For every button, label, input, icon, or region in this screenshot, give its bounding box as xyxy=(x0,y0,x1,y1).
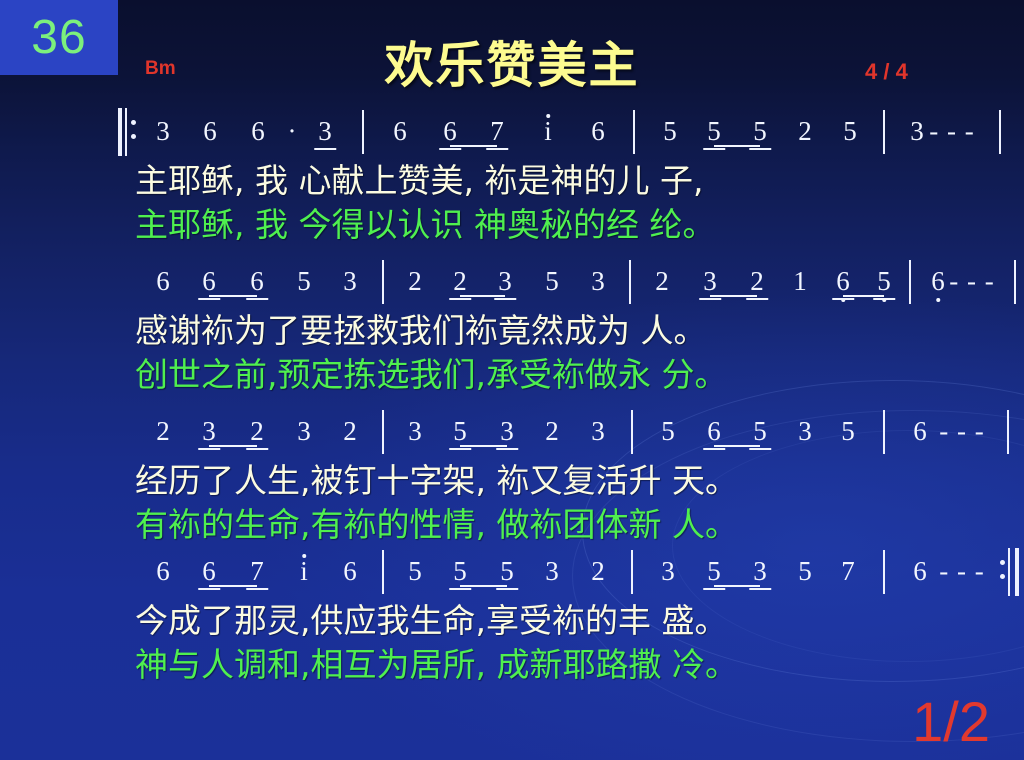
beam-line xyxy=(209,585,257,587)
note: 3 xyxy=(661,558,675,585)
note: 5 xyxy=(707,558,721,585)
note: 6 xyxy=(591,118,605,145)
barline xyxy=(633,110,635,154)
note: 3 xyxy=(408,418,422,445)
note: 5 xyxy=(297,268,311,295)
beam-line xyxy=(843,295,884,297)
barline xyxy=(629,260,631,304)
barline xyxy=(382,410,384,454)
lyric-line-primary: 经历了人生,被钉十字架, 袮又复活升 天。 xyxy=(0,460,1024,504)
sustain-dashes: - - - xyxy=(939,558,984,585)
note: 7 xyxy=(490,118,504,145)
note: 3 xyxy=(591,418,605,445)
notation-row: 667i655532353576- - - xyxy=(0,552,1024,596)
note: 3 xyxy=(910,118,924,145)
note: 6 xyxy=(203,118,217,145)
beam-line xyxy=(714,445,760,447)
note: 3 xyxy=(545,558,559,585)
note: i xyxy=(300,558,308,585)
octave-down-dot xyxy=(882,298,886,302)
barline xyxy=(883,410,885,454)
lyric-line-primary: 今成了那灵,供应我生命,享受袮的丰 盛。 xyxy=(0,600,1024,644)
music-system: 667i655532353576- - -今成了那灵,供应我生命,享受袮的丰 盛… xyxy=(0,552,1024,596)
note: i xyxy=(544,118,552,145)
notation-row: 2323235323565356- - - xyxy=(0,412,1024,456)
time-signature: 4 / 4 xyxy=(865,59,908,85)
note: 6 xyxy=(202,268,216,295)
lyric-text: 今成了那灵,供应我生命,享受袮的丰 盛。 xyxy=(135,600,727,641)
note: 2 xyxy=(545,418,559,445)
lyric-line-primary: 主耶稣, 我 心献上赞美, 袮是神的儿 子, xyxy=(0,160,1024,204)
note: 6 xyxy=(156,268,170,295)
barline xyxy=(631,410,633,454)
barline xyxy=(362,110,364,154)
barline xyxy=(1014,260,1016,304)
note: 5 xyxy=(500,558,514,585)
barline xyxy=(909,260,911,304)
augmentation-dot: · xyxy=(288,118,297,145)
note: 2 xyxy=(156,418,170,445)
sustain-dashes: - - - xyxy=(929,118,974,145)
barline xyxy=(1007,410,1009,454)
note: 5 xyxy=(843,118,857,145)
note: 2 xyxy=(750,268,764,295)
note: 6 xyxy=(156,558,170,585)
note: 6 xyxy=(443,118,457,145)
note: 6 xyxy=(931,268,945,295)
octave-down-dot xyxy=(936,298,940,302)
note: 5 xyxy=(408,558,422,585)
slide-canvas: 36 Bm 欢乐赞美主 4 / 4 366·3667i6555253- - -主… xyxy=(0,0,1024,760)
note: 5 xyxy=(798,558,812,585)
note: 5 xyxy=(453,418,467,445)
barline xyxy=(382,550,384,594)
note: 2 xyxy=(408,268,422,295)
note: 6 xyxy=(393,118,407,145)
note: 6 xyxy=(913,558,927,585)
sustain-dashes: - - - xyxy=(939,418,984,445)
note: 5 xyxy=(753,418,767,445)
note: 3 xyxy=(156,118,170,145)
lyric-line-secondary: 创世之前,预定拣选我们,承受袮做永 分。 xyxy=(0,354,1024,398)
barline xyxy=(631,550,633,594)
barline xyxy=(999,110,1001,154)
note: 3 xyxy=(591,268,605,295)
beam-line xyxy=(714,145,760,147)
octave-up-dot xyxy=(302,554,306,558)
barline xyxy=(382,260,384,304)
note: 6 xyxy=(913,418,927,445)
note: 3 xyxy=(703,268,717,295)
note: 3 xyxy=(297,418,311,445)
note: 3 xyxy=(753,558,767,585)
lyric-line-secondary: 神与人调和,相互为居所, 成新耶路撒 冷。 xyxy=(0,644,1024,688)
note: 5 xyxy=(545,268,559,295)
barline xyxy=(883,550,885,594)
lyric-text: 神与人调和,相互为居所, 成新耶路撒 冷。 xyxy=(135,644,738,685)
note: 1 xyxy=(793,268,807,295)
lyric-text: 创世之前,预定拣选我们,承受袮做永 分。 xyxy=(135,354,727,395)
note: 5 xyxy=(453,558,467,585)
note: 3 xyxy=(202,418,216,445)
note: 6 xyxy=(251,118,265,145)
beam-line xyxy=(460,585,507,587)
lyric-text: 主耶稣, 我 今得以认识 神奥秘的经 纶。 xyxy=(135,204,715,245)
note: 5 xyxy=(753,118,767,145)
note: 6 xyxy=(343,558,357,585)
beam-line xyxy=(450,145,497,147)
lyric-text: 有袮的生命,有袮的性情, 做袮团体新 人。 xyxy=(135,504,738,545)
beam-line xyxy=(209,295,257,297)
note: 6 xyxy=(707,418,721,445)
note: 5 xyxy=(661,418,675,445)
note: 5 xyxy=(877,268,891,295)
lyric-text: 感谢袮为了要拯救我们袮竟然成为 人。 xyxy=(135,310,707,351)
note: 5 xyxy=(663,118,677,145)
note: 6 xyxy=(836,268,850,295)
lyric-line-primary: 感谢袮为了要拯救我们袮竟然成为 人。 xyxy=(0,310,1024,354)
notation-row: 66653223532321656- - - xyxy=(0,262,1024,306)
beam-line xyxy=(460,445,507,447)
note: 6 xyxy=(202,558,216,585)
note: 3 xyxy=(798,418,812,445)
note: 2 xyxy=(343,418,357,445)
music-system: 366·3667i6555253- - -主耶稣, 我 心献上赞美, 袮是神的儿… xyxy=(0,112,1024,156)
beam-line xyxy=(710,295,757,297)
lyric-line-secondary: 主耶稣, 我 今得以认识 神奥秘的经 纶。 xyxy=(0,204,1024,248)
note: 5 xyxy=(841,418,855,445)
note: 5 xyxy=(707,118,721,145)
note: 7 xyxy=(841,558,855,585)
lyric-text: 经历了人生,被钉十字架, 袮又复活升 天。 xyxy=(135,460,738,501)
beam-line xyxy=(714,585,760,587)
lyric-line-secondary: 有袮的生命,有袮的性情, 做袮团体新 人。 xyxy=(0,504,1024,548)
music-system: 2323235323565356- - -经历了人生,被钉十字架, 袮又复活升 … xyxy=(0,412,1024,456)
lyric-text: 主耶稣, 我 心献上赞美, 袮是神的儿 子, xyxy=(135,160,703,201)
notation-row: 366·3667i6555253- - - xyxy=(0,112,1024,156)
beam-line xyxy=(460,295,505,297)
beam-line xyxy=(209,445,257,447)
note: 7 xyxy=(250,558,264,585)
note: 2 xyxy=(798,118,812,145)
octave-down-dot xyxy=(841,298,845,302)
note: 2 xyxy=(591,558,605,585)
music-system: 66653223532321656- - -感谢袮为了要拯救我们袮竟然成为 人。… xyxy=(0,262,1024,306)
note: 3 xyxy=(318,118,332,145)
note: 3 xyxy=(343,268,357,295)
page-indicator: 1/2 xyxy=(912,694,990,750)
note: 2 xyxy=(250,418,264,445)
note: 3 xyxy=(500,418,514,445)
note: 3 xyxy=(498,268,512,295)
barline xyxy=(883,110,885,154)
sustain-dashes: - - - xyxy=(949,268,994,295)
note: 6 xyxy=(250,268,264,295)
note: 2 xyxy=(655,268,669,295)
note: 2 xyxy=(453,268,467,295)
octave-up-dot xyxy=(546,114,550,118)
